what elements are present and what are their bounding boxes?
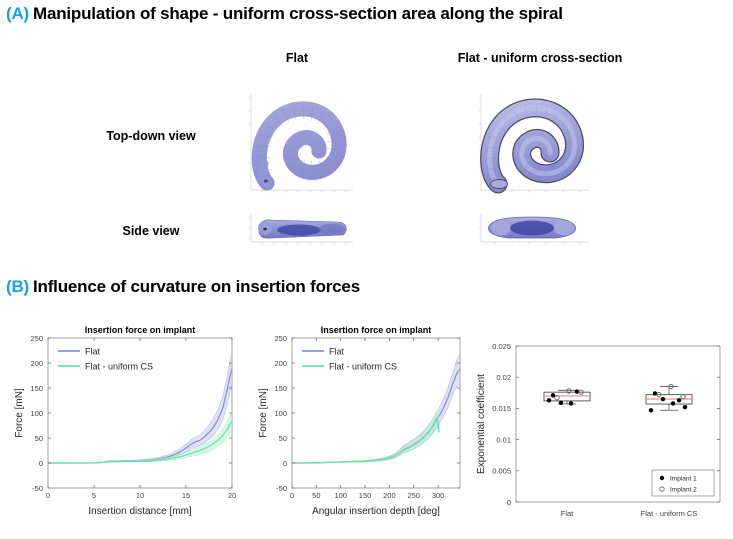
x-axis-label: Angular insertion depth [deg] bbox=[312, 506, 440, 517]
svg-text:0.01: 0.01 bbox=[496, 435, 511, 444]
row-label-top-down-view: Top-down view bbox=[76, 129, 226, 143]
svg-text:0: 0 bbox=[290, 491, 294, 500]
render-flat-top-down bbox=[237, 86, 355, 198]
data-point-implant-1 bbox=[683, 405, 687, 409]
svg-text:150: 150 bbox=[274, 384, 287, 393]
legend-item-label: Flat - uniform CS bbox=[85, 361, 153, 371]
chart-title: Insertion force on implant bbox=[321, 325, 432, 335]
svg-text:200: 200 bbox=[274, 359, 287, 368]
y-axis-label: Exponential coefficient bbox=[476, 374, 487, 474]
svg-text:0.025: 0.025 bbox=[492, 342, 511, 351]
panel-b-title: Influence of curvature on insertion forc… bbox=[33, 277, 360, 296]
data-point-implant-1 bbox=[677, 398, 681, 402]
data-point-implant-1 bbox=[671, 401, 675, 405]
svg-text:300: 300 bbox=[432, 491, 445, 500]
chart-exponential-coefficient-boxplot: FlatFlat - uniform CS00.0050.010.0150.02… bbox=[470, 330, 732, 535]
svg-text:100: 100 bbox=[30, 409, 43, 418]
svg-text:15: 15 bbox=[182, 491, 190, 500]
chart-title: Insertion force on implant bbox=[85, 325, 196, 335]
svg-text:0: 0 bbox=[507, 498, 511, 507]
boxplot-legend: Implant 1Implant 2 bbox=[652, 470, 714, 496]
legend-item-label: Flat - uniform CS bbox=[329, 361, 397, 371]
legend-marker-filled-circle-icon bbox=[660, 476, 664, 480]
side-profile-uniform bbox=[488, 217, 575, 238]
svg-text:0: 0 bbox=[283, 459, 287, 468]
y-axis-label: Force [mN] bbox=[258, 388, 269, 438]
legend-item-label: Flat bbox=[329, 346, 345, 356]
svg-text:50: 50 bbox=[35, 434, 43, 443]
data-point-implant-1 bbox=[547, 398, 551, 402]
svg-text:0.005: 0.005 bbox=[492, 467, 511, 476]
panel-b-heading: (B)Influence of curvature on insertion f… bbox=[6, 277, 360, 297]
spiral-model-flat bbox=[255, 105, 339, 183]
spiral-model-uniform bbox=[486, 104, 575, 189]
svg-text:50: 50 bbox=[279, 434, 287, 443]
svg-text:0.015: 0.015 bbox=[492, 404, 511, 413]
row-label-side-view: Side view bbox=[76, 224, 226, 238]
render-flat-side bbox=[237, 208, 355, 256]
render-uniform-top-down bbox=[465, 86, 591, 198]
svg-text:5: 5 bbox=[92, 491, 96, 500]
svg-text:100: 100 bbox=[274, 409, 287, 418]
svg-text:200: 200 bbox=[383, 491, 396, 500]
svg-text:100: 100 bbox=[334, 491, 347, 500]
panel-b-tag: (B) bbox=[6, 277, 29, 296]
data-point-implant-1 bbox=[661, 397, 665, 401]
svg-text:250: 250 bbox=[30, 334, 43, 343]
svg-text:-50: -50 bbox=[32, 484, 43, 493]
data-point-implant-1 bbox=[559, 401, 563, 405]
panel-a-heading: (A)Manipulation of shape - uniform cross… bbox=[6, 4, 563, 24]
y-axis-label: Force [mN] bbox=[14, 388, 25, 438]
svg-text:0: 0 bbox=[39, 459, 43, 468]
chart-insertion-force-vs-angle: 050100150200250300-50050100150200250Inse… bbox=[248, 322, 472, 537]
data-point-implant-1 bbox=[569, 401, 573, 405]
svg-text:-50: -50 bbox=[276, 484, 287, 493]
x-axis-label: Insertion distance [mm] bbox=[88, 506, 192, 517]
svg-text:0.02: 0.02 bbox=[496, 373, 511, 382]
svg-text:50: 50 bbox=[312, 491, 320, 500]
svg-text:250: 250 bbox=[274, 334, 287, 343]
panel-a-title: Manipulation of shape - uniform cross-se… bbox=[33, 4, 563, 23]
category-label: Flat - uniform CS bbox=[641, 509, 698, 518]
column-title-flat: Flat bbox=[232, 51, 362, 65]
svg-text:20: 20 bbox=[228, 491, 236, 500]
svg-text:200: 200 bbox=[30, 359, 43, 368]
svg-text:10: 10 bbox=[136, 491, 144, 500]
chart-insertion-force-vs-distance: 05101520-50050100150200250Insertion forc… bbox=[4, 322, 244, 537]
data-point-implant-1 bbox=[649, 408, 653, 412]
legend-item-label: Flat bbox=[85, 346, 101, 356]
svg-text:250: 250 bbox=[407, 491, 420, 500]
column-title-uniform-cross-section: Flat - uniform cross-section bbox=[420, 51, 660, 65]
render-uniform-side bbox=[465, 208, 591, 256]
svg-text:150: 150 bbox=[30, 384, 43, 393]
legend-item-label: Implant 2 bbox=[670, 487, 697, 494]
side-profile-flat bbox=[258, 220, 346, 238]
category-label: Flat bbox=[561, 509, 574, 518]
svg-text:0: 0 bbox=[46, 491, 50, 500]
legend-item-label: Implant 1 bbox=[670, 476, 697, 483]
panel-a-tag: (A) bbox=[6, 4, 29, 23]
svg-text:150: 150 bbox=[359, 491, 372, 500]
